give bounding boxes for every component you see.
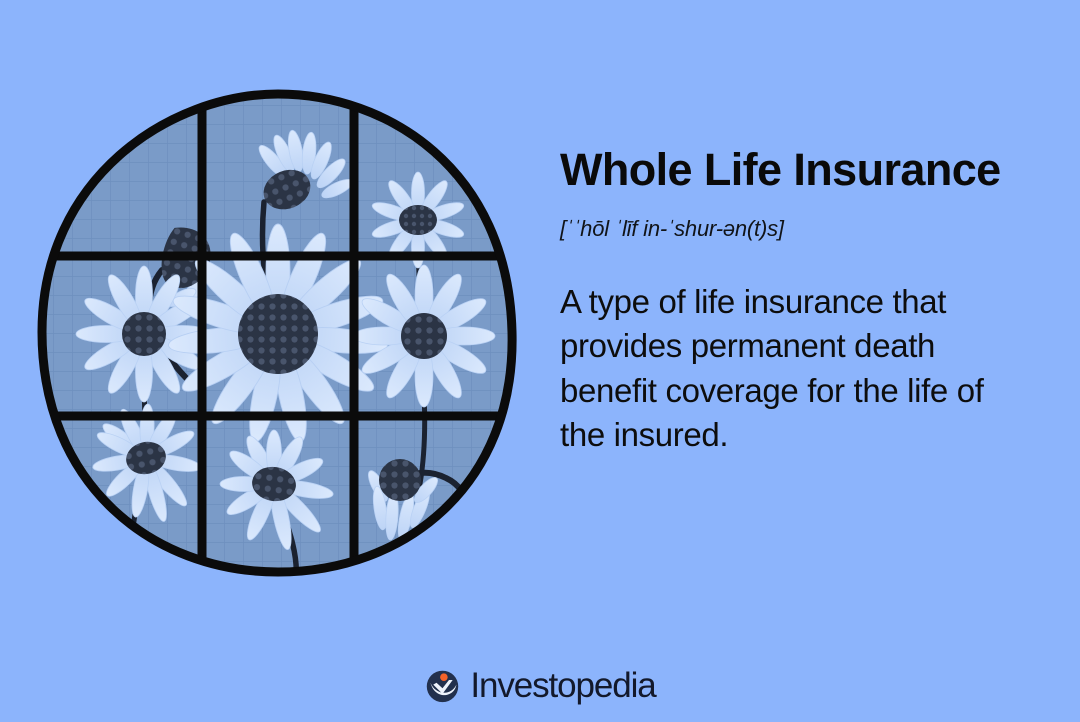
investopedia-wordmark: Investopedia bbox=[470, 668, 655, 703]
investopedia-logo: Investopedia bbox=[0, 667, 1080, 704]
investopedia-logo-icon bbox=[424, 667, 461, 704]
definition-card: Whole Life Insurance [ˈˈhōl ˈlīf in-ˈshu… bbox=[0, 0, 1080, 722]
pronunciation-text: [ˈˈhōl ˈlīf in-ˈshur-ən(t)s] bbox=[560, 216, 1060, 242]
definition-text: A type of life insurance that provides p… bbox=[560, 280, 1030, 457]
definition-text-column: Whole Life Insurance [ˈˈhōl ˈlīf in-ˈshu… bbox=[560, 146, 1060, 457]
term-title: Whole Life Insurance bbox=[560, 146, 1060, 194]
daisy-grid-illustration bbox=[34, 86, 522, 580]
